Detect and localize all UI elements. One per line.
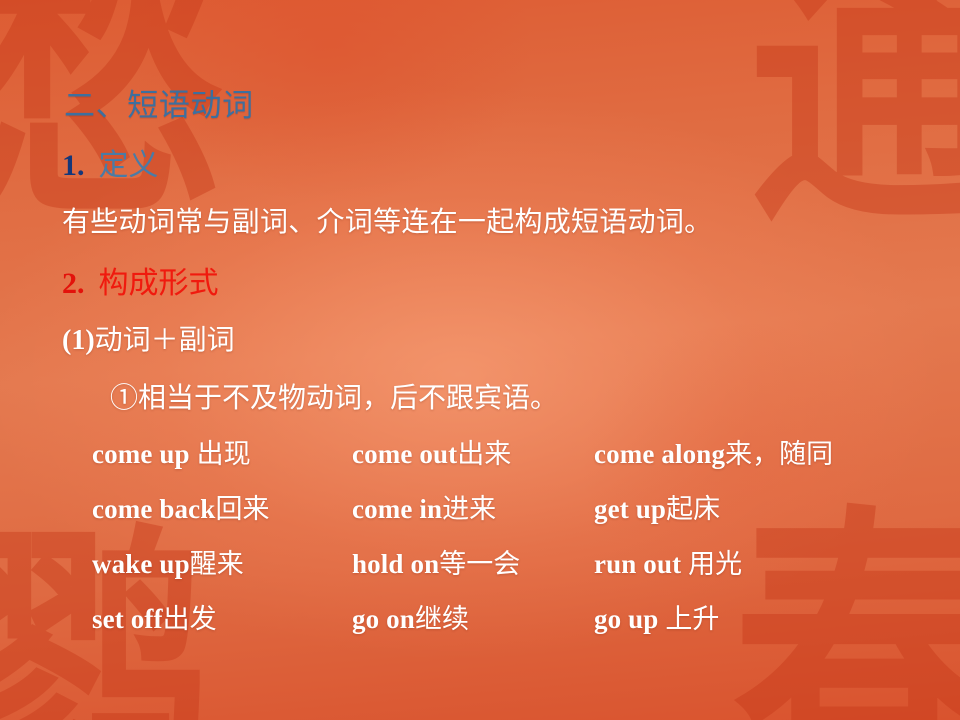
phrasal-verb-cell: wake up醒来: [92, 542, 244, 581]
phrasal-verb-row: come back回来 come in进来 get up起床: [88, 487, 938, 542]
phrasal-verb-cell: come along来，随同: [594, 432, 833, 471]
phrasal-verb-english: go on: [352, 604, 415, 634]
subsection-2-label: 构成形式: [99, 267, 219, 300]
phrasal-verb-chinese: 出来: [457, 439, 511, 469]
slide-canvas: 愁 通 鹨 春 二、短语动词 1.定义 有些动词常与副词、介词等连在一起构成短语…: [0, 0, 960, 720]
subsection-1-label: 定义: [99, 149, 159, 182]
phrasal-verb-cell: come in进来: [352, 487, 496, 526]
phrasal-verb-cell: come up 出现: [92, 432, 251, 471]
phrasal-verb-cell: come back回来: [92, 487, 269, 526]
phrasal-verb-chinese: 继续: [415, 604, 469, 634]
phrasal-verb-chinese: 起床: [666, 494, 720, 524]
phrasal-verb-chinese: 用光: [688, 549, 742, 579]
phrasal-verb-english: run out: [594, 549, 688, 579]
definition-text: 有些动词常与副词、介词等连在一起构成短语动词。: [62, 200, 712, 240]
phrasal-verb-chinese: 进来: [442, 494, 496, 524]
phrasal-verb-english: come back: [92, 494, 215, 524]
phrasal-verb-chinese: 上升: [665, 604, 719, 634]
form-type-1-text: 动词＋副词: [95, 325, 235, 356]
phrasal-verb-chinese: 醒来: [190, 549, 244, 579]
phrasal-verb-row: wake up醒来 hold on等一会 run out 用光: [88, 542, 938, 597]
phrasal-verb-english: come in: [352, 494, 442, 524]
form-type-1: (1)动词＋副词: [62, 318, 235, 358]
subsection-1-definition: 1.定义: [62, 140, 159, 184]
phrasal-verb-chinese: 出现: [197, 439, 251, 469]
phrasal-verb-english: come out: [352, 439, 457, 469]
phrasal-verb-chinese: 来，随同: [725, 439, 833, 469]
phrasal-verb-cell: come out出来: [352, 432, 511, 471]
subsection-2-number: 2.: [62, 267, 85, 300]
form-type-1-tag: (1): [62, 325, 95, 356]
phrasal-verb-cell: go up 上升: [594, 597, 719, 636]
phrasal-verb-cell: get up起床: [594, 487, 720, 526]
phrasal-verb-english: set off: [92, 604, 163, 634]
phrasal-verb-row: set off出发 go on继续 go up 上升: [88, 597, 938, 652]
phrasal-verb-english: go up: [594, 604, 665, 634]
phrasal-verb-chinese: 出发: [163, 604, 217, 634]
phrasal-verb-cell: run out 用光: [594, 542, 742, 581]
slide-content: 二、短语动词 1.定义 有些动词常与副词、介词等连在一起构成短语动词。 2.构成…: [0, 0, 960, 720]
subsection-1-number: 1.: [62, 149, 85, 182]
phrasal-verb-cell: hold on等一会: [352, 542, 520, 581]
phrasal-verb-english: hold on: [352, 549, 439, 579]
phrasal-verb-cell: set off出发: [92, 597, 217, 636]
phrasal-verb-table: come up 出现 come out出来 come along来，随同 com…: [88, 432, 938, 652]
phrasal-verb-english: wake up: [92, 549, 190, 579]
section-heading: 二、短语动词: [64, 80, 254, 125]
phrasal-verb-english: come up: [92, 439, 197, 469]
subsection-2-forms: 2.构成形式: [62, 258, 219, 302]
phrasal-verb-chinese: 回来: [215, 494, 269, 524]
phrasal-verb-cell: go on继续: [352, 597, 469, 636]
form-type-1-note: ①相当于不及物动词，后不跟宾语。: [110, 376, 558, 416]
phrasal-verb-english: get up: [594, 494, 666, 524]
phrasal-verb-english: come along: [594, 439, 725, 469]
phrasal-verb-row: come up 出现 come out出来 come along来，随同: [88, 432, 938, 487]
phrasal-verb-chinese: 等一会: [439, 549, 520, 579]
